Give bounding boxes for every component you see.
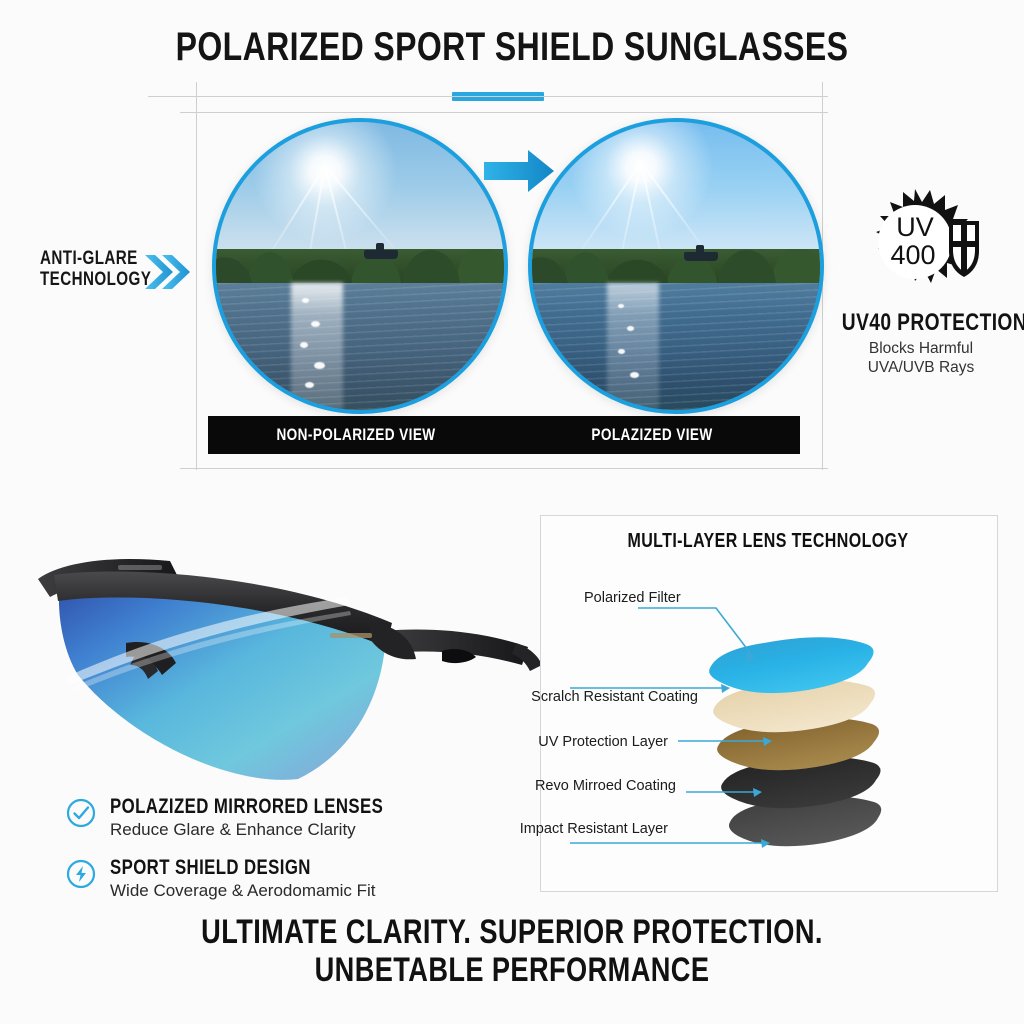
lightning-circle-icon: [66, 859, 96, 889]
anti-glare-line1: ANTI-GLARE: [40, 248, 160, 269]
tagline-line1: ULTIMATE CLARITY. SUPERIOR PROTECTION.: [102, 913, 921, 952]
svg-text:UV: UV: [896, 212, 934, 242]
sun-shield-icon: UV 400: [857, 185, 985, 303]
feature-title: POLAZIZED MIRRORED LENSES: [110, 796, 383, 817]
double-chevron-right-icon: [143, 252, 191, 292]
check-circle-icon: [66, 798, 96, 828]
uv-subtitle-line1: Blocks Harmful: [822, 340, 1020, 359]
layer-label-impact-resistant: Impact Resistant Layer: [398, 821, 668, 837]
uv-title: UV40 PROTECTION: [842, 309, 1000, 337]
guide-line-bottom: [180, 468, 828, 469]
layer-label-scratch-resistant: Scralch Resistant Coating: [398, 689, 698, 705]
multi-layer-title: MULTI-LAYER LENS TECHNOLOGY: [586, 530, 951, 553]
guide-line-left: [196, 82, 197, 470]
feature-item-sport-shield-design: SPORT SHIELD DESIGN Wide Coverage & Aero…: [66, 857, 496, 901]
caption-polarized: POLAZIZED VIEW: [534, 425, 771, 445]
anti-glare-line2: TECHNOLOGY: [40, 269, 160, 290]
uv-subtitle: Blocks Harmful UVA/UVB Rays: [822, 340, 1020, 378]
layer-label-polarized-filter: Polarized Filter: [584, 590, 744, 606]
comparison-circle-polarized: [528, 118, 824, 414]
lens-layer-diagram: [540, 560, 996, 890]
boat-shape: [364, 250, 398, 259]
uv-subtitle-line2: UVA/UVB Rays: [822, 359, 1020, 378]
feature-list: POLAZIZED MIRRORED LENSES Reduce Glare &…: [66, 796, 496, 917]
comparison-caption-bar: NON-POLARIZED VIEW POLAZIZED VIEW: [208, 416, 800, 454]
layer-label-revo-mirrored: Revo Mirroed Coating: [408, 778, 676, 794]
feature-title: SPORT SHIELD DESIGN: [110, 857, 322, 878]
boat-shape: [684, 252, 718, 261]
uv-protection-block: UV 400 UV40 PROTECTION Blocks Harmful UV…: [822, 185, 1020, 378]
comparison-circle-non-polarized: [212, 118, 508, 414]
guide-line-top: [148, 96, 828, 97]
svg-text:400: 400: [890, 240, 935, 270]
layer-label-uv-protection: UV Protection Layer: [428, 734, 668, 750]
guide-line-top-inner: [180, 112, 828, 113]
feature-subtitle: Wide Coverage & Aerodomamic Fit: [110, 882, 376, 901]
caption-non-polarized: NON-POLARIZED VIEW: [238, 425, 475, 445]
right-arrow-icon: [484, 148, 556, 194]
infographic-canvas: POLARIZED SPORT SHIELD SUNGLASSES: [0, 0, 1024, 1024]
tagline-line2: UNBETABLE PERFORMANCE: [102, 951, 921, 990]
tagline: ULTIMATE CLARITY. SUPERIOR PROTECTION. U…: [0, 913, 1024, 991]
page-title: POLARIZED SPORT SHIELD SUNGLASSES: [102, 26, 921, 68]
